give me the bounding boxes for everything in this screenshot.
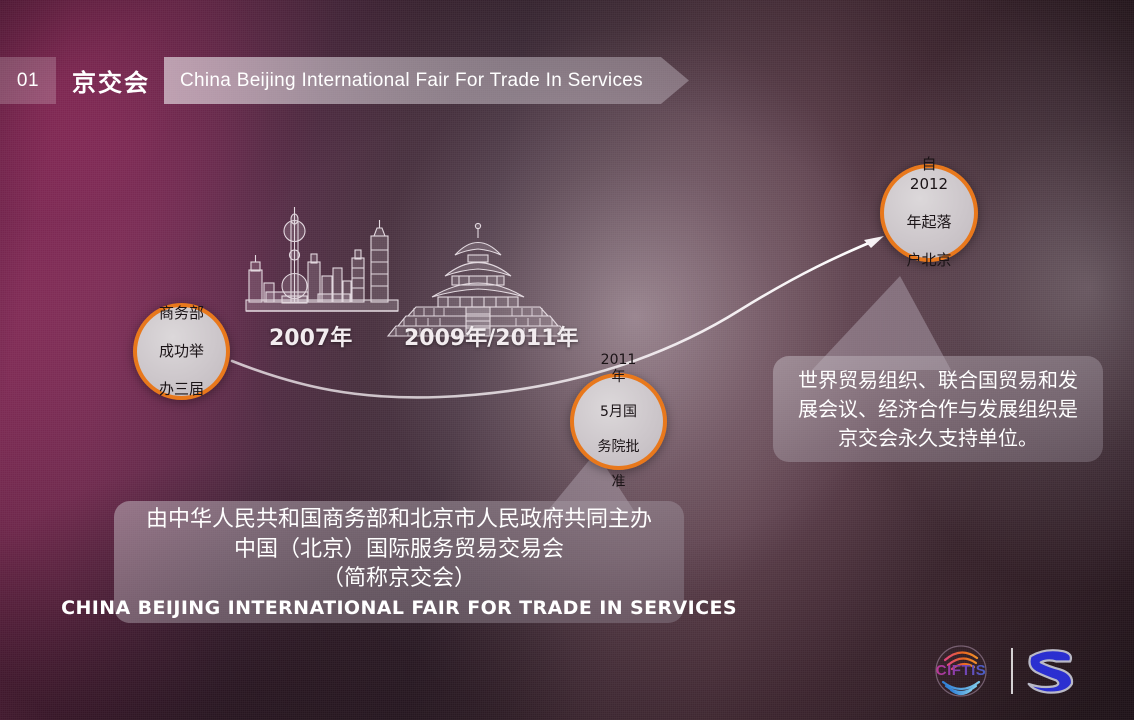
milestone-circle-2[interactable]: 2011年5月国务院批准 <box>570 373 667 470</box>
logo-divider <box>1011 648 1013 694</box>
milestone-circle-3-label: 自2012年起落户北京 <box>884 155 974 270</box>
year-label-2009-2011: 2009年/2011年 <box>404 320 579 352</box>
milestone-circle-2-label: 2011年5月国务院批准 <box>574 352 663 492</box>
milestone-circle-3[interactable]: 自2012年起落户北京 <box>880 164 978 262</box>
callout-organizers-line-3: （简称京交会） <box>322 564 476 593</box>
shanghai-skyline-icon <box>246 207 398 311</box>
s-swoosh-logo-icon <box>1027 644 1075 698</box>
ciftis-logo: CIFTIS <box>925 638 997 704</box>
logo-group: CIFTIS <box>925 638 1075 704</box>
slide-canvas: 01 京交会 China Beijing International Fair … <box>0 0 1134 720</box>
callout-organizers-line-2: 中国（北京）国际服务贸易交易会 <box>234 535 564 564</box>
callout-supporters-line-2: 展会议、经济合作与发展组织是 <box>798 395 1078 424</box>
timeline-arrowhead <box>864 236 884 248</box>
milestone-circle-1-label: 商务部成功举办三届 <box>139 304 224 400</box>
callout-organizers-line-1: 由中华人民共和国商务部和北京市人民政府共同主办 <box>146 505 652 534</box>
callout-supporters-line-3: 京交会永久支持单位。 <box>838 424 1038 453</box>
year-label-2007: 2007年 <box>269 320 352 352</box>
callout-supporters-line-1: 世界贸易组织、联合国贸易和发 <box>798 366 1078 395</box>
callout-organizers-line-en: CHINA BEIJING INTERNATIONAL FAIR FOR TRA… <box>61 597 737 619</box>
milestone-circle-1[interactable]: 商务部成功举办三届 <box>133 303 230 400</box>
callout-supporters: 世界贸易组织、联合国贸易和发 展会议、经济合作与发展组织是 京交会永久支持单位。 <box>773 356 1103 462</box>
ciftis-logo-text: CIFTIS <box>925 662 997 679</box>
callout-organizers: 由中华人民共和国商务部和北京市人民政府共同主办 中国（北京）国际服务贸易交易会 … <box>114 501 684 623</box>
